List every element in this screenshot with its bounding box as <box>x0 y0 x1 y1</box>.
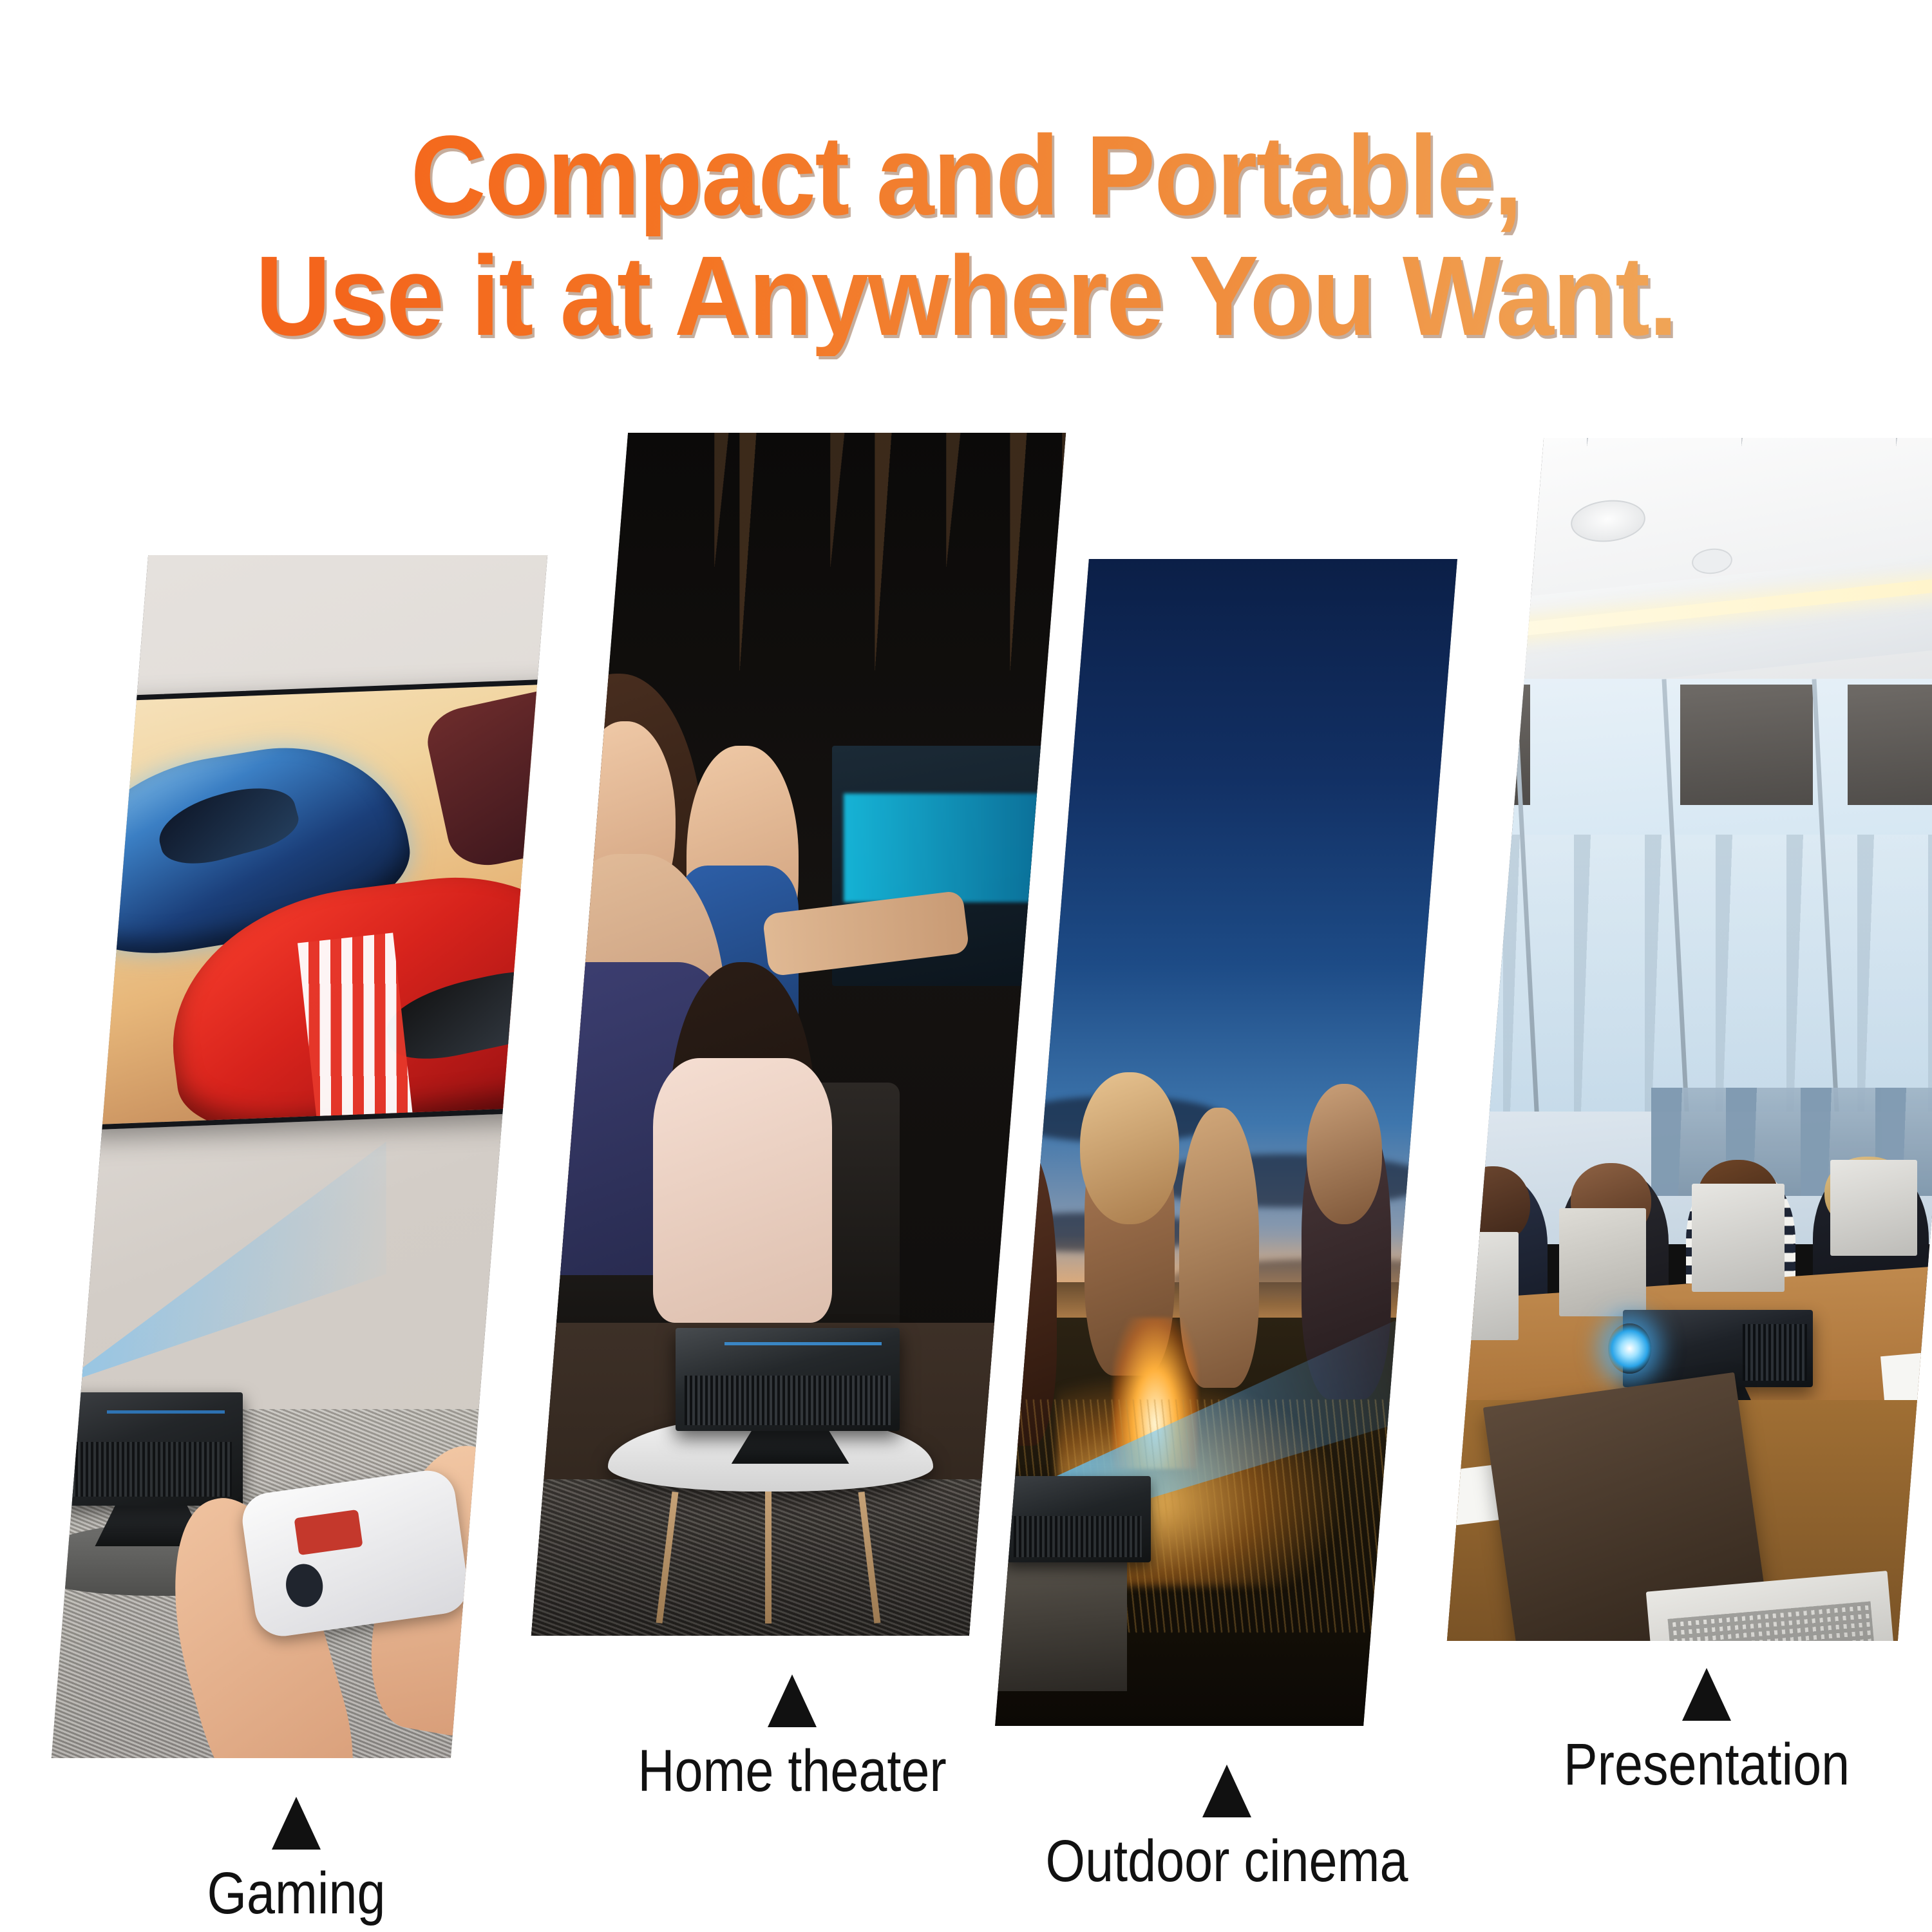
son-shirt <box>653 1058 833 1323</box>
background-race-car <box>422 677 548 874</box>
attendee-laptop <box>1559 1208 1645 1316</box>
scene-panel-home-theater <box>531 433 1066 1636</box>
triangle-up-icon <box>1202 1765 1251 1817</box>
blue-car-windshield <box>152 776 304 874</box>
window-blind <box>1848 685 1932 805</box>
attendee-laptop <box>1447 1232 1519 1340</box>
outdoor-cinema-photo <box>995 559 1457 1726</box>
portable-projector <box>59 1392 243 1506</box>
home-theater-photo <box>531 433 1066 1636</box>
caption-presentation-label: Presentation <box>1513 1731 1900 1799</box>
window-blind <box>1680 685 1813 805</box>
screen-glow <box>844 793 1066 902</box>
city-view-outside <box>1447 835 1932 1123</box>
caption-outdoor-cinema-label: Outdoor cinema <box>1036 1828 1417 1895</box>
triangle-up-icon <box>1682 1668 1731 1721</box>
scene-panel-outdoor-cinema <box>995 559 1457 1726</box>
headline-line-1: Compact and Portable, <box>77 116 1855 236</box>
game-controller <box>240 1467 472 1640</box>
attendee-laptop <box>1692 1184 1784 1292</box>
cooler-box <box>995 1551 1127 1690</box>
caption-gaming: Gaming <box>84 1797 509 1927</box>
triangle-up-icon <box>272 1797 321 1850</box>
projector-accent-line <box>724 1342 882 1345</box>
gaming-photo <box>52 555 547 1758</box>
portable-projector <box>1005 1476 1151 1562</box>
caption-gaming-label: Gaming <box>113 1860 479 1927</box>
person-face <box>1080 1072 1179 1224</box>
caption-home-theater: Home theater <box>567 1674 1018 1805</box>
projector-lens-glow <box>1608 1323 1651 1374</box>
page-headline: Compact and Portable, Use it at Anywhere… <box>77 116 1855 356</box>
projector-accent-line <box>107 1410 225 1414</box>
portable-projector <box>676 1328 900 1432</box>
person-face <box>1306 1084 1381 1224</box>
presentation-photo <box>1447 438 1932 1641</box>
table-leg <box>765 1492 772 1624</box>
scene-panel-presentation <box>1447 438 1932 1641</box>
headline-line-2: Use it at Anywhere You Want. <box>77 236 1855 357</box>
projection-screen <box>66 677 547 1131</box>
caption-outdoor-cinema: Outdoor cinema <box>1005 1765 1449 1895</box>
caption-home-theater-label: Home theater <box>598 1738 986 1805</box>
scene-panel-gaming <box>52 555 547 1758</box>
attendee-laptop <box>1830 1160 1917 1256</box>
area-rug <box>531 1479 1066 1636</box>
caption-presentation: Presentation <box>1481 1668 1932 1799</box>
paper-sheet <box>1880 1349 1932 1405</box>
triangle-up-icon <box>768 1674 817 1727</box>
